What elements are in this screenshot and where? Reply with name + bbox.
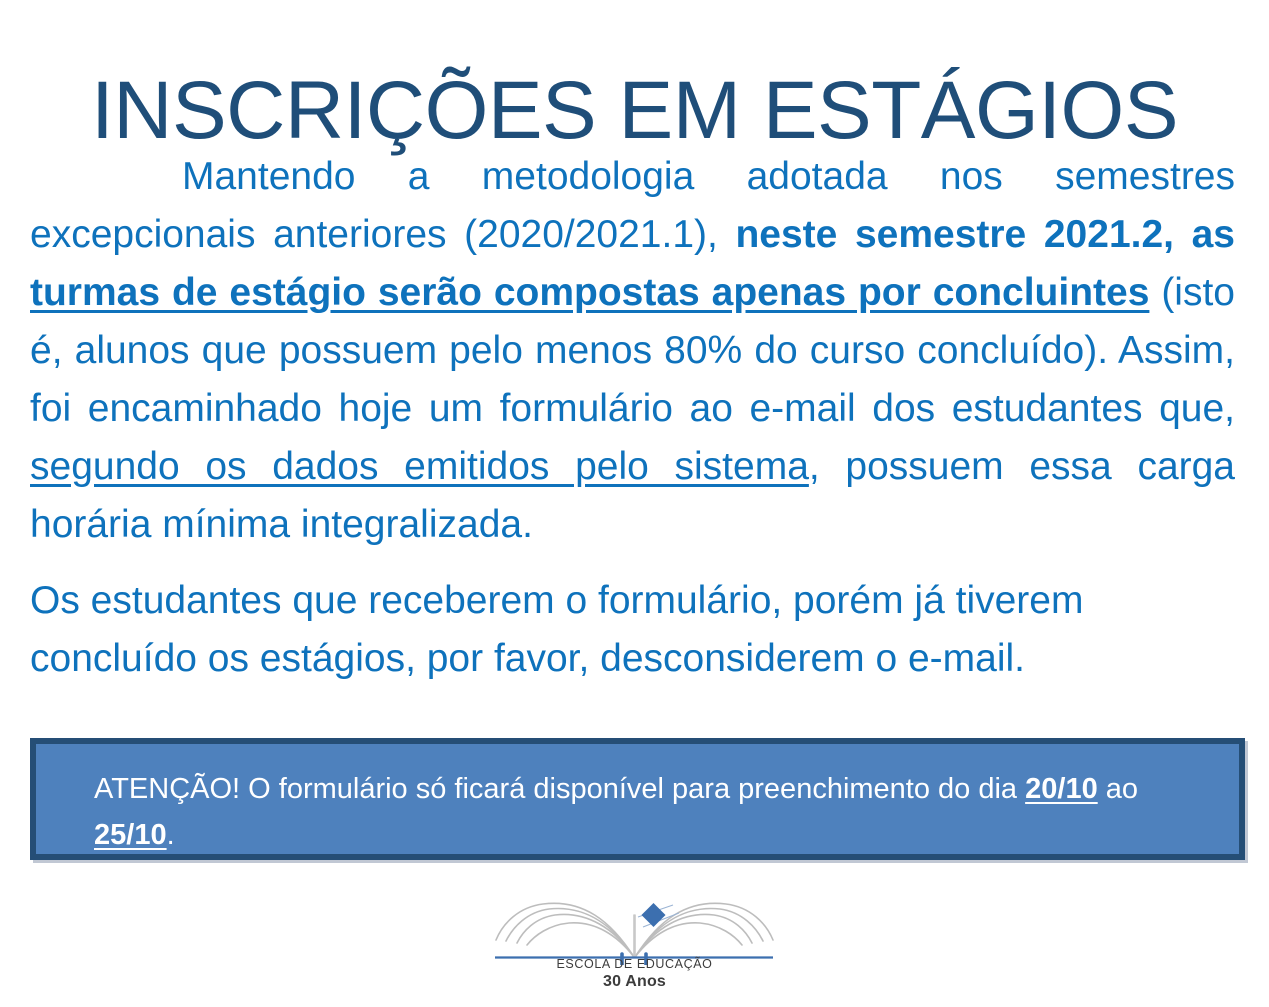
- paragraph-1-segment-underline: segundo os dados emitidos pelo sistema: [30, 445, 809, 488]
- slide-body: Mantendo a metodologia adotada nos semes…: [30, 148, 1235, 694]
- attention-segment-a: ATENÇÃO! O formulário só ficará disponív…: [94, 773, 1025, 805]
- attention-date-start: 20/10: [1025, 773, 1098, 805]
- institution-logo: ESCOLA DE EDUCAÇÃO 30 Anos: [487, 885, 782, 1003]
- attention-callout-text: ATENÇÃO! O formulário só ficará disponív…: [94, 766, 1215, 858]
- page-title: INSCRIÇÕES EM ESTÁGIOS: [0, 63, 1269, 159]
- logo-name-line-1: ESCOLA DE EDUCAÇÃO: [487, 957, 782, 972]
- attention-segment-c: .: [167, 819, 175, 851]
- attention-segment-b: ao: [1098, 773, 1138, 805]
- attention-date-end: 25/10: [94, 819, 167, 851]
- paragraph-1-segment-bold-underline: turmas de estágio serão compostas apenas…: [30, 271, 1149, 314]
- attention-callout-box: ATENÇÃO! O formulário só ficará disponív…: [30, 738, 1245, 860]
- paragraph-2: Os estudantes que receberem o formulário…: [30, 572, 1235, 688]
- paragraph-1: Mantendo a metodologia adotada nos semes…: [30, 148, 1235, 554]
- open-book-icon: [487, 885, 782, 965]
- logo-caption: ESCOLA DE EDUCAÇÃO 30 Anos: [487, 957, 782, 991]
- paragraph-1-segment-bold: neste semestre 2021.2, as: [735, 213, 1235, 256]
- logo-name-line-2: 30 Anos: [487, 972, 782, 991]
